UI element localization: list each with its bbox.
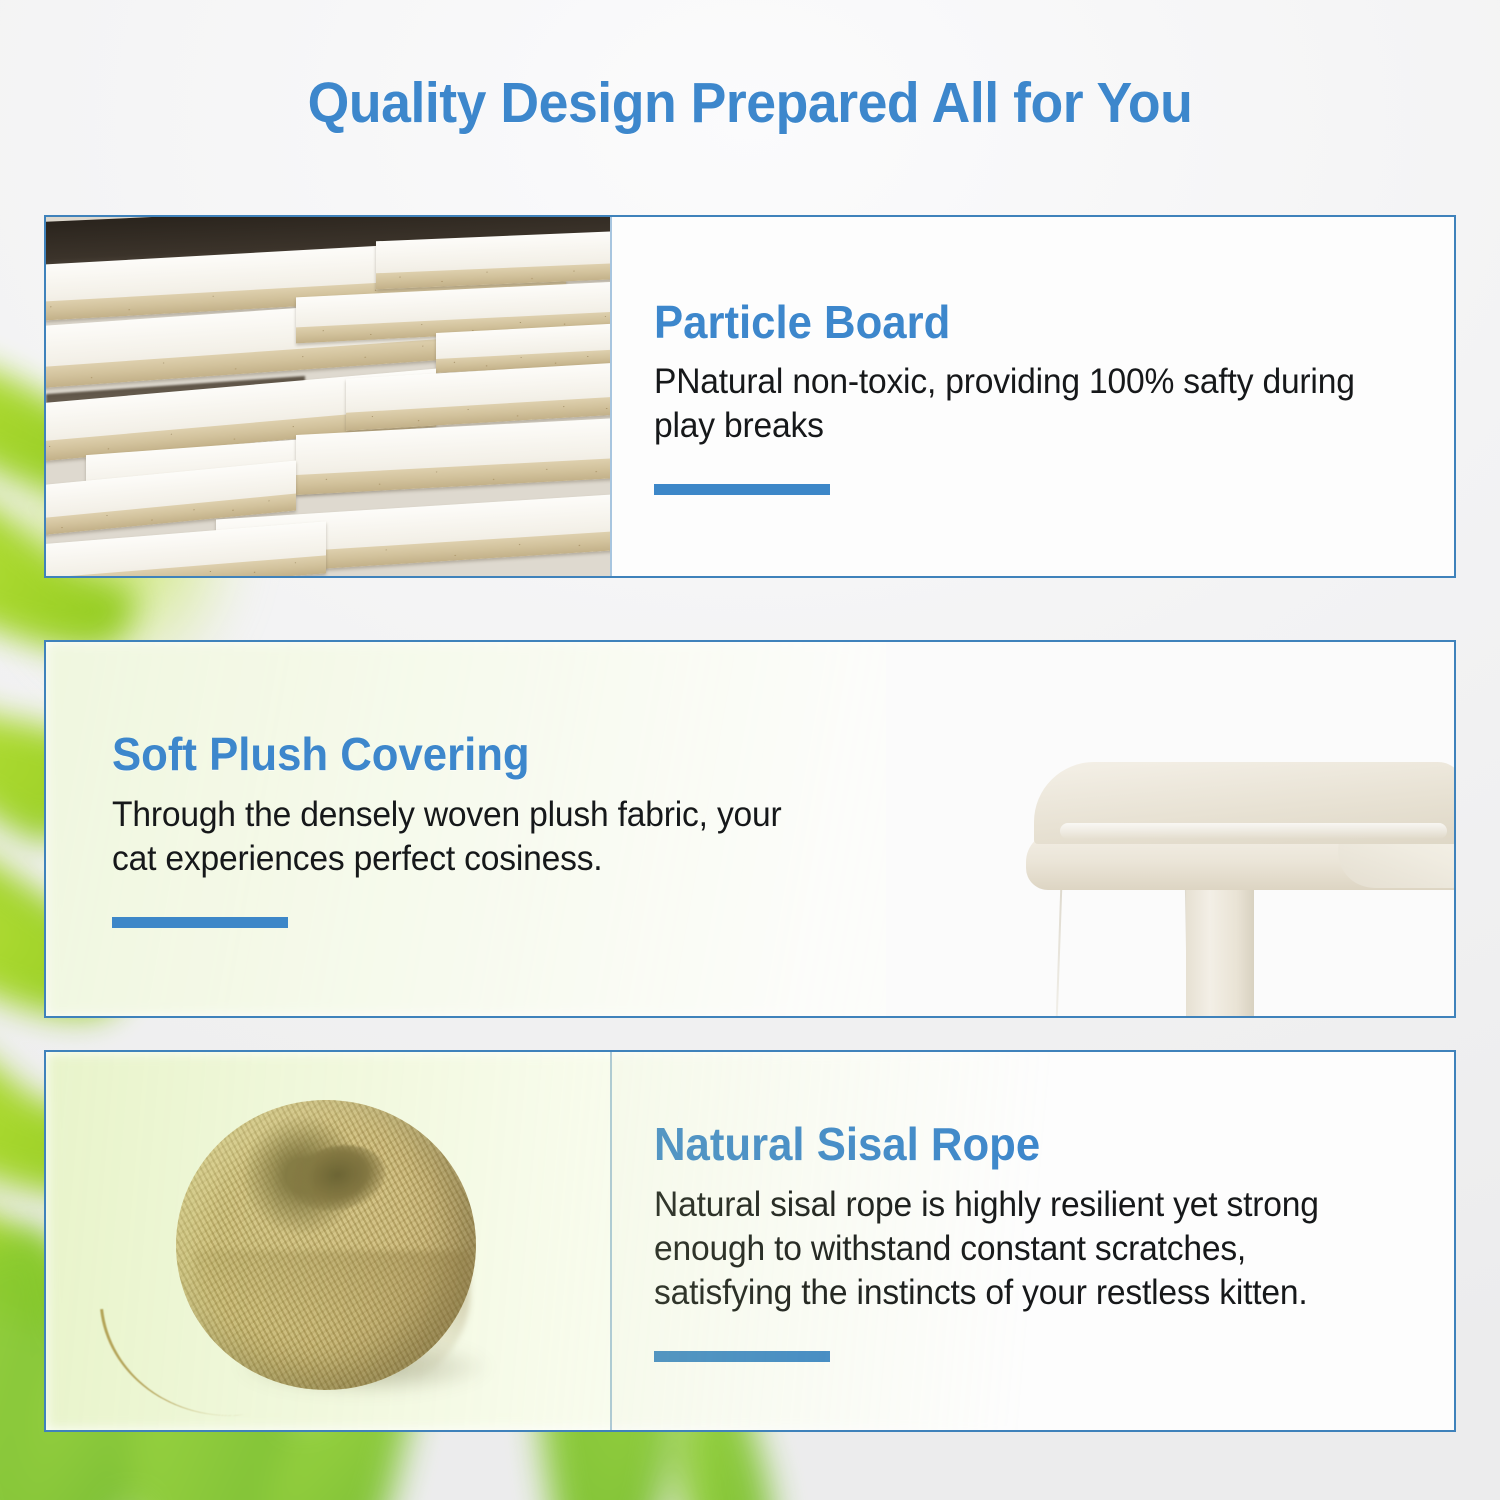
accent-underline-bar: [654, 484, 830, 495]
accent-underline-bar: [112, 917, 288, 928]
feature-card-soft-plush-covering: Soft Plush Covering Through the densely …: [44, 640, 1456, 1018]
accent-underline-bar: [654, 1351, 830, 1362]
feature-description: Natural sisal rope is highly resilient y…: [654, 1183, 1380, 1315]
plush-text-pane: Soft Plush Covering Through the densely …: [46, 642, 886, 1016]
sisal-rope-image: [46, 1052, 610, 1430]
plush-post: [1186, 884, 1254, 1016]
feature-card-natural-sisal-rope: Natural Sisal Rope Natural sisal rope is…: [44, 1050, 1456, 1432]
feature-title: Natural Sisal Rope: [654, 1120, 1372, 1168]
plush-fiber-strand: [1056, 882, 1063, 1016]
feature-description: PNatural non-toxic, providing 100% safty…: [654, 360, 1380, 448]
feature-card-particle-board: Particle Board PNatural non-toxic, provi…: [44, 215, 1456, 578]
rope-ball: [176, 1100, 476, 1390]
feature-title: Soft Plush Covering: [112, 730, 806, 778]
page-title: Quality Design Prepared All for You: [45, 70, 1455, 136]
particle-board-image: [46, 217, 610, 576]
sisal-text-pane: Natural Sisal Rope Natural sisal rope is…: [610, 1052, 1454, 1430]
sisal-rope-photo: [46, 1052, 610, 1430]
infographic-stage: Quality Design Prepared All for You: [0, 0, 1500, 1500]
particle-board-text-pane: Particle Board PNatural non-toxic, provi…: [610, 217, 1454, 576]
particle-board-photo: [46, 217, 610, 576]
plush-cushion: [1034, 762, 1454, 844]
plush-perch-image: [886, 642, 1454, 1016]
feature-title: Particle Board: [654, 298, 1372, 346]
feature-description: Through the densely woven plush fabric, …: [112, 793, 813, 881]
plush-perch-photo: [886, 642, 1454, 1016]
rope-center-hollow: [284, 1137, 391, 1220]
